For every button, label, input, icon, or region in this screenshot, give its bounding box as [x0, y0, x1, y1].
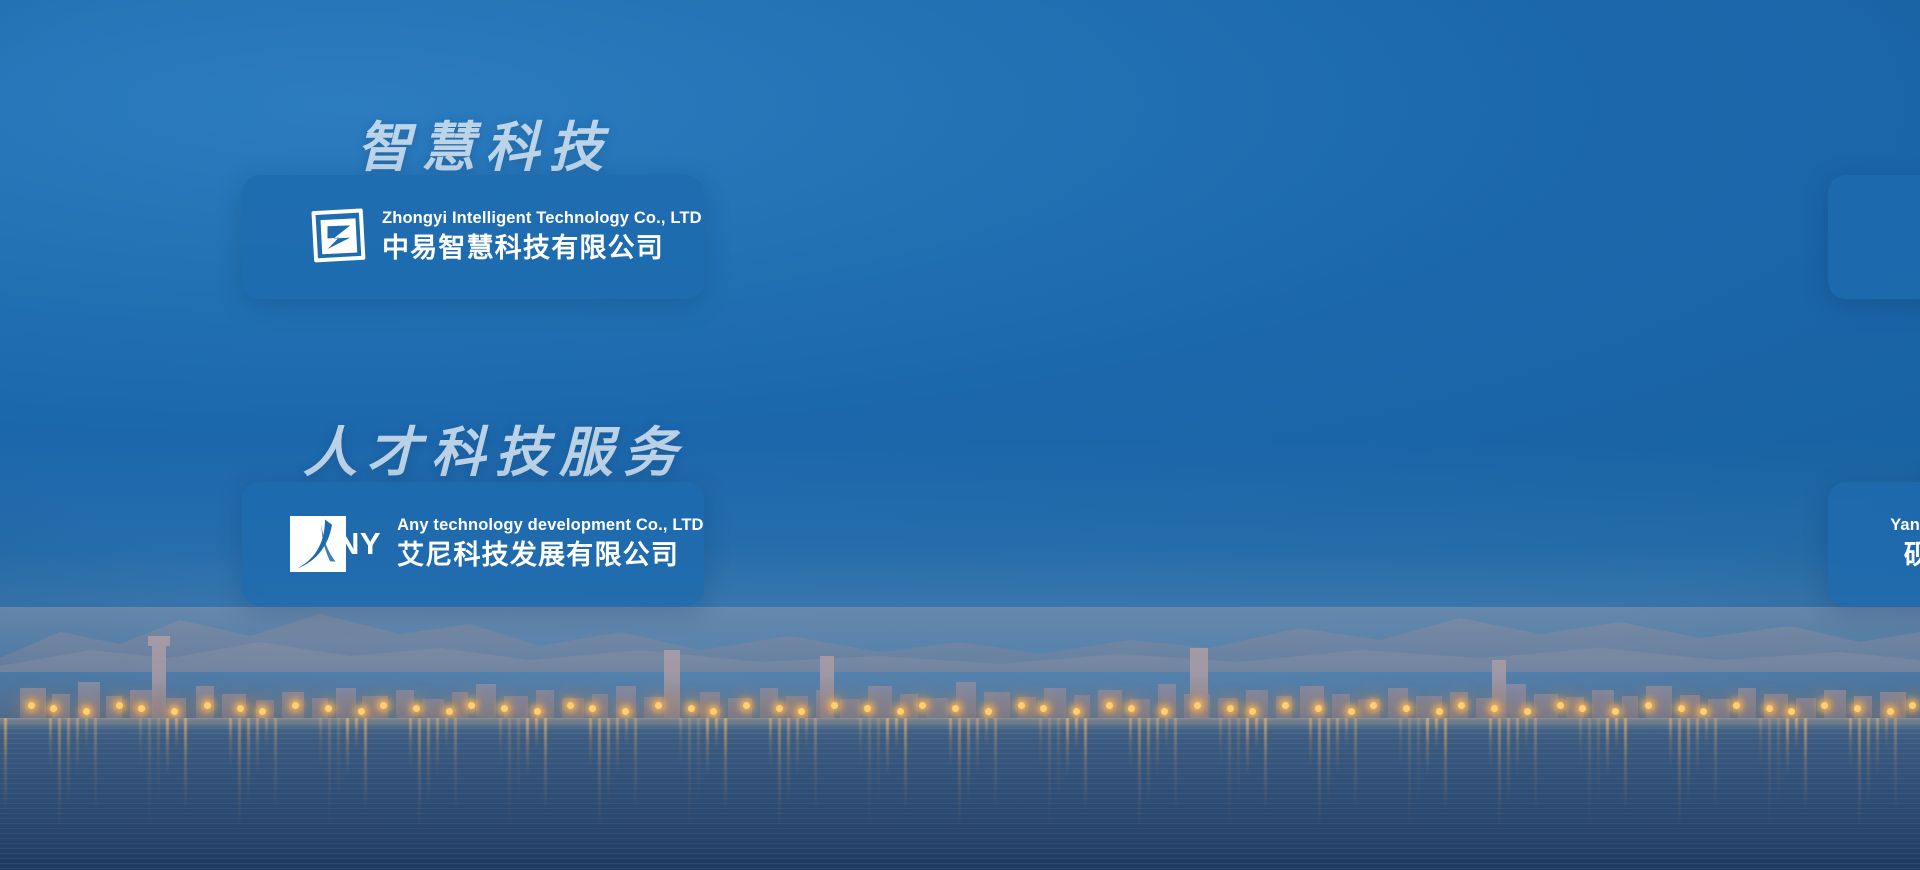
company-card-yanxiang-trading[interactable]: ® Yanxiang trading Co., LTD 砚香贸易有限公司: [1828, 175, 1920, 299]
section-heading-smart-technology: 智慧科技: [357, 103, 613, 182]
company-card-zhongyi[interactable]: Zhongyi Intelligent Technology Co., LTD …: [242, 175, 704, 299]
segment-real-estate: 房地产开发 Yanxiang real estate development C…: [960, 320, 1920, 640]
segment-fmcg: 快消品 ®: [960, 0, 1920, 320]
segment-smart-technology: 智慧科技 Zhongyi Intelligent Technology Co.,…: [0, 0, 960, 320]
water-ripples: [0, 718, 1920, 870]
any-logo-text: NY: [337, 526, 381, 562]
page-root: 智慧科技 Zhongyi Intelligent Technology Co.,…: [0, 0, 1920, 870]
company-name-cn: 砚香房地产开发有限公司: [1904, 538, 1920, 573]
company-names-any-technology: Any technology development Co., LTD 艾尼科技…: [397, 515, 704, 574]
segment-talent-technology: 人才科技服务 NY Any technology development Co.…: [0, 320, 960, 640]
segments-grid: 智慧科技 Zhongyi Intelligent Technology Co.,…: [0, 0, 1920, 640]
section-heading-talent-technology: 人才科技服务: [303, 408, 687, 487]
company-names-zhongyi: Zhongyi Intelligent Technology Co., LTD …: [382, 208, 702, 267]
company-name-cn: 艾尼科技发展有限公司: [397, 538, 704, 573]
company-name-en: Yanxiang real estate development Co. LTD: [1890, 515, 1920, 536]
company-name-en: Any technology development Co., LTD: [397, 515, 704, 536]
company-names-yanxiang-real-estate: Yanxiang real estate development Co. LTD…: [1890, 515, 1920, 574]
water-surface: [0, 718, 1920, 870]
company-card-yanxiang-real-estate[interactable]: Yanxiang real estate development Co. LTD…: [1828, 482, 1920, 606]
company-name-cn: 中易智慧科技有限公司: [382, 231, 702, 266]
any-triangle-logo-icon: NY: [290, 516, 381, 572]
promenade-lights: [0, 686, 1920, 720]
zhongyi-z-logo-icon: [310, 207, 366, 268]
company-name-en: Zhongyi Intelligent Technology Co., LTD: [382, 208, 702, 229]
company-card-any-technology[interactable]: NY Any technology development Co., LTD 艾…: [242, 482, 704, 606]
